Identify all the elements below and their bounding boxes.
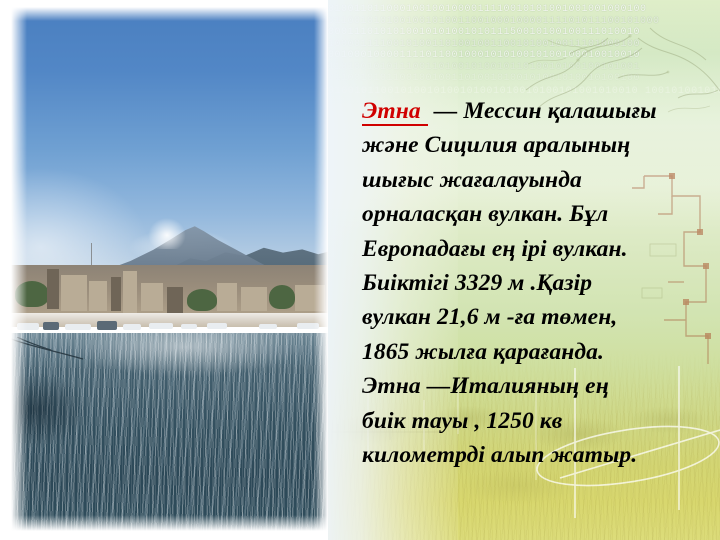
slide: 0100110110001001001000011110010101001001… — [0, 0, 720, 540]
smoke-plume — [139, 203, 195, 249]
building — [111, 277, 121, 311]
tree-cluster — [269, 285, 295, 309]
text-line-3: шығыс жағалауында — [362, 163, 712, 197]
text-line-6: Биіктігі 3329 м .Қазір — [362, 266, 712, 300]
photo-container — [0, 0, 340, 540]
tree-cluster — [15, 281, 49, 307]
text-line-11: километрді алып жатыр. — [362, 438, 712, 472]
text-line-2: және Сицилия аралының — [362, 128, 712, 162]
tree-cluster — [187, 289, 217, 311]
building — [123, 271, 137, 313]
boat — [65, 324, 91, 330]
building — [141, 283, 163, 311]
boat — [17, 323, 39, 330]
boat — [297, 323, 319, 329]
building — [89, 281, 107, 311]
boat — [259, 324, 277, 329]
boat — [43, 322, 59, 330]
text-line-8: 1865 жылға қарағанда. — [362, 335, 712, 369]
text-line-4: орналасқан вулкан. Бұл — [362, 197, 712, 231]
building — [217, 283, 237, 311]
mooring-line-icon — [11, 337, 131, 363]
boat — [207, 323, 227, 329]
boat — [181, 324, 197, 329]
text-line-10: биік тауы , 1250 кв — [362, 404, 712, 438]
sea-shadow — [11, 373, 131, 463]
text-line-1-rest: — Мессин қалашығы — [428, 98, 657, 124]
boat — [123, 324, 141, 330]
slide-text: Этна — Мессин қалашығы және Сицилия арал… — [362, 94, 712, 472]
text-line-9: Этна —Италияның ең — [362, 369, 712, 403]
building — [47, 269, 59, 309]
building — [295, 285, 325, 311]
building — [241, 287, 267, 311]
text-line-5: Европадағы ең ірі вулкан. — [362, 232, 712, 266]
boat — [97, 321, 117, 330]
text-line-1: Этна — Мессин қалашығы — [362, 94, 712, 128]
boat — [149, 323, 173, 329]
etna-photo — [11, 7, 328, 531]
building — [61, 275, 87, 311]
building — [167, 287, 183, 313]
text-line-7: вулкан 21,6 м -ға төмен, — [362, 300, 712, 334]
keyword-etna: Этна — [362, 98, 428, 126]
